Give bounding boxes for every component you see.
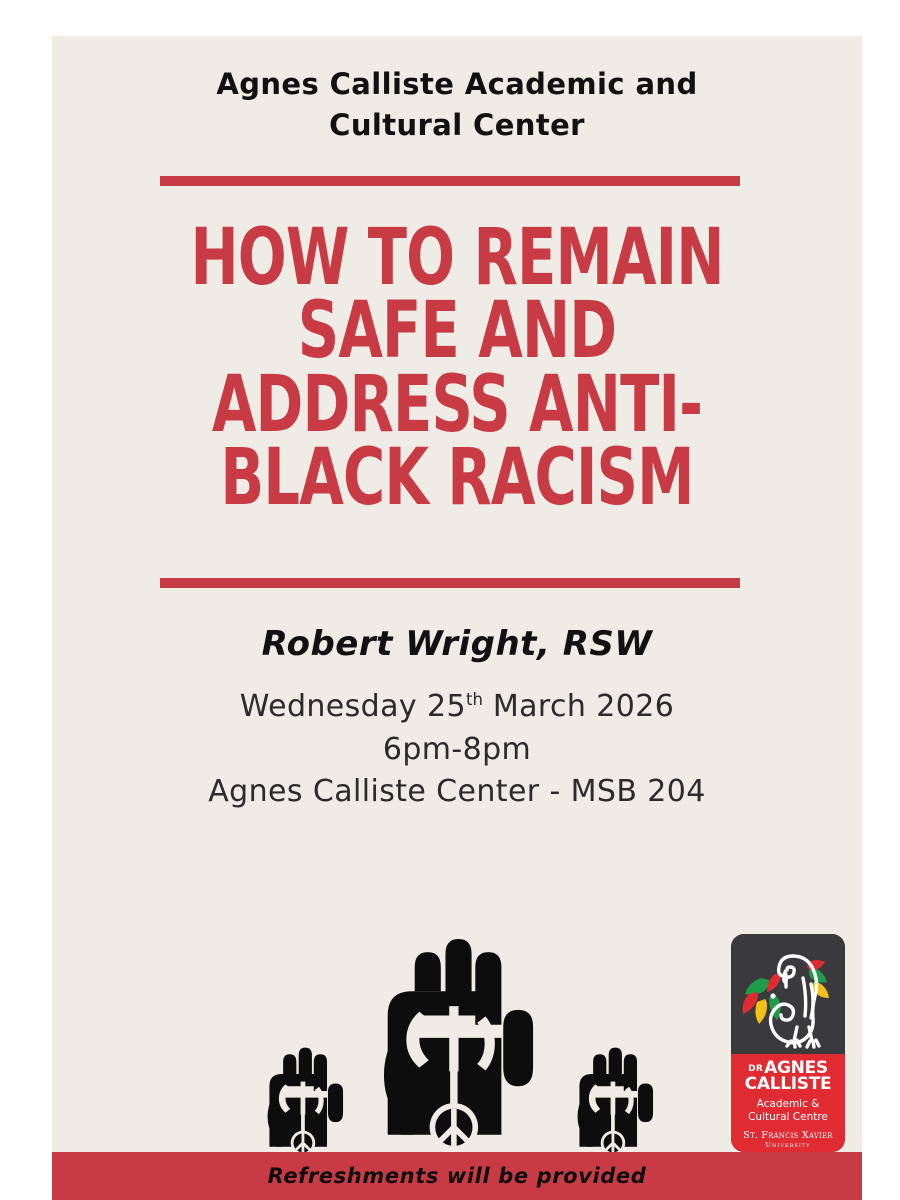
raised-fist-center-icon xyxy=(357,926,547,1159)
event-date-ordinal: th xyxy=(466,690,483,709)
event-location: Agnes Calliste Center - MSB 204 xyxy=(82,771,832,814)
logo-subtitle-line2: Cultural Centre xyxy=(748,1111,828,1123)
logo-text-panel: DRAGNES CALLISTE Academic & Cultural Cen… xyxy=(731,1054,845,1152)
agnes-calliste-logo-badge[interactable]: DRAGNES CALLISTE Academic & Cultural Cen… xyxy=(731,934,845,1152)
title-line-2: SAFE AND xyxy=(150,295,765,368)
logo-university-name: St. Francis Xavier xyxy=(743,1130,832,1141)
divider-rule-bottom xyxy=(160,578,740,588)
poster-title: HOW TO REMAIN SAFE AND ADDRESS ANTI- BLA… xyxy=(82,222,832,515)
sankofa-bird-icon xyxy=(731,934,845,1054)
organization-name-line2: Cultural Center xyxy=(112,105,802,146)
event-time: 6pm-8pm xyxy=(82,729,832,772)
poster-canvas: Agnes Calliste Academic and Cultural Cen… xyxy=(52,36,862,1200)
raised-fist-left-icon xyxy=(257,1041,347,1159)
event-details: Robert Wright, RSW Wednesday 25th March … xyxy=(82,624,832,814)
logo-emblem-panel xyxy=(731,934,845,1054)
logo-university-word: University xyxy=(731,1142,845,1150)
logo-subtitle-line1: Academic & xyxy=(757,1098,820,1110)
organization-name-line1: Agnes Calliste Academic and xyxy=(112,64,802,105)
logo-dr-prefix: DR xyxy=(748,1064,763,1074)
footer-banner: Refreshments will be provided xyxy=(52,1152,862,1200)
speaker-name: Robert Wright, RSW xyxy=(82,624,832,664)
event-date: Wednesday 25th March 2026 xyxy=(82,686,832,729)
title-line-4: BLACK RACISM xyxy=(150,442,765,515)
raised-fist-right-icon xyxy=(567,1041,657,1159)
divider-rule-top xyxy=(160,176,740,186)
logo-university: St. Francis Xavier University xyxy=(731,1130,845,1149)
logo-title: DRAGNES CALLISTE xyxy=(731,1060,845,1093)
footer-text: Refreshments will be provided xyxy=(268,1164,647,1188)
logo-name-calliste: CALLISTE xyxy=(731,1076,845,1093)
event-date-prefix: Wednesday 25 xyxy=(240,689,466,724)
title-line-3: ADDRESS ANTI- xyxy=(150,369,765,442)
event-date-suffix: March 2026 xyxy=(483,689,674,724)
poster-header: Agnes Calliste Academic and Cultural Cen… xyxy=(112,64,802,146)
title-line-1: HOW TO REMAIN xyxy=(150,222,765,295)
logo-subtitle: Academic & Cultural Centre xyxy=(731,1098,845,1124)
